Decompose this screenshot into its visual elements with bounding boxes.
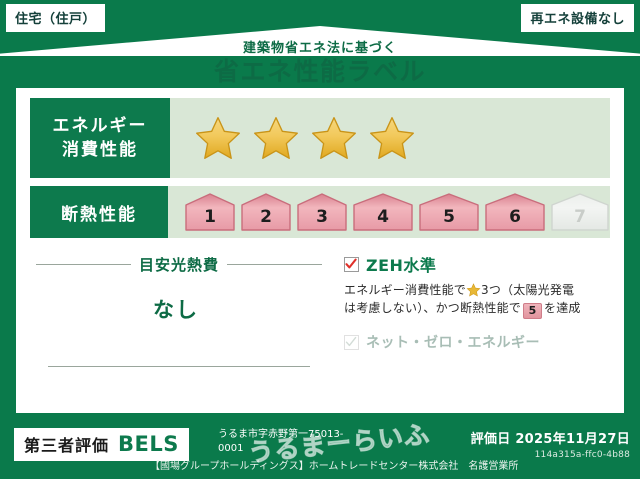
insulation-grade-scale: 1234567 xyxy=(168,186,610,238)
label-title-block: 建築物省エネ法に基づく 省エネ性能ラベル xyxy=(0,40,640,88)
zeh-desc-part4: を達成 xyxy=(544,301,581,315)
building-type-tag: 住宅（住戸） xyxy=(6,4,105,32)
lower-section: 目安光熱費 なし ZEH水準 エネルギー消費性能で3つ（太陽光発電 xyxy=(30,248,610,398)
title-subtitle: 建築物省エネ法に基づく xyxy=(0,40,640,57)
bels-name-label: BELS xyxy=(118,432,179,456)
star-filled-icon xyxy=(252,115,300,161)
utility-cost-value: なし xyxy=(30,294,322,324)
insulation-chip-active: 5 xyxy=(418,192,480,232)
energy-label-line1: エネルギー xyxy=(53,114,148,138)
zeh-desc-part2: 3つ（太陽光発電 xyxy=(481,283,574,297)
utility-cost-block: 目安光熱費 なし xyxy=(30,248,330,398)
net-zero-checkbox-unchecked-icon xyxy=(344,335,359,350)
company-name: 【國場グループホールディングス】ホームトレードセンター株式会社 名護営業所 xyxy=(150,457,570,472)
energy-label-root: 住宅（住戸） 再エネ設備なし 建築物省エネ法に基づく 省エネ性能ラベル エネルギ… xyxy=(0,0,640,479)
insulation-performance-row: 断熱性能 1234567 xyxy=(30,186,610,238)
utility-cost-heading-text: 目安光熱費 xyxy=(139,254,219,275)
utility-cost-divider xyxy=(48,366,310,367)
address-line-1: うるま市字赤野第一75013- xyxy=(218,428,478,442)
insulation-chip-inactive: 7 xyxy=(550,192,610,232)
heading-rule-right xyxy=(227,264,322,265)
insulation-chip-active: 4 xyxy=(352,192,414,232)
zeh-heading: ZEH水準 xyxy=(344,252,610,276)
insulation-chip-value: 7 xyxy=(574,207,586,232)
insulation-chip-value: 6 xyxy=(509,207,521,232)
energy-performance-value xyxy=(170,98,610,178)
inline-grade-chip: 5 xyxy=(523,303,542,319)
label-body-panel: エネルギー 消費性能 断熱性能 1234567 目安光熱費 なし xyxy=(16,88,624,413)
heading-rule-left xyxy=(36,264,131,265)
utility-cost-heading: 目安光熱費 xyxy=(36,254,322,275)
energy-performance-label: エネルギー 消費性能 xyxy=(30,98,170,178)
energy-label-line2: 消費性能 xyxy=(62,138,138,162)
energy-performance-row: エネルギー 消費性能 xyxy=(30,98,610,178)
star-filled-icon xyxy=(310,115,358,161)
zeh-block: ZEH水準 エネルギー消費性能で3つ（太陽光発電 は考慮しない）、かつ断熱性能で… xyxy=(330,248,610,398)
bels-prefix-label: 第三者評価 xyxy=(24,432,109,456)
insulation-chip-active: 3 xyxy=(296,192,348,232)
insulation-chip-value: 4 xyxy=(377,207,389,232)
title-main: 省エネ性能ラベル xyxy=(0,57,640,86)
property-address: うるま市字赤野第一75013- 0001 xyxy=(218,428,478,456)
insulation-chip-active: 1 xyxy=(184,192,236,232)
zeh-desc-part3: は考慮しない）、かつ断熱性能で xyxy=(344,301,521,315)
evaluation-date-block: 評価日 2025年11月27日 114a315a-ffc0-4b88 xyxy=(471,428,630,460)
inline-star-icon xyxy=(466,283,481,297)
insulation-chip-value: 2 xyxy=(260,207,272,232)
zeh-title: ZEH水準 xyxy=(366,252,436,276)
zeh-description: エネルギー消費性能で3つ（太陽光発電 は考慮しない）、かつ断熱性能で5を達成 xyxy=(344,281,610,319)
insulation-performance-label: 断熱性能 xyxy=(30,186,168,238)
net-zero-energy-row: ネット・ゼロ・エネルギー xyxy=(344,332,610,352)
zeh-desc-part1: エネルギー消費性能で xyxy=(344,283,466,297)
insulation-chip-active: 2 xyxy=(240,192,292,232)
address-line-2: 0001 xyxy=(218,442,478,456)
insulation-chip-value: 5 xyxy=(443,207,455,232)
insulation-chip-value: 1 xyxy=(204,207,216,232)
insulation-chip-active: 6 xyxy=(484,192,546,232)
insulation-chip-value: 3 xyxy=(316,207,328,232)
star-filled-icon xyxy=(368,115,416,161)
star-rating xyxy=(194,115,416,161)
renewable-equipment-tag: 再エネ設備なし xyxy=(521,4,634,32)
net-zero-energy-title: ネット・ゼロ・エネルギー xyxy=(366,332,540,352)
star-filled-icon xyxy=(194,115,242,161)
evaluation-date: 評価日 2025年11月27日 xyxy=(471,428,630,447)
zeh-checkbox-checked-icon xyxy=(344,257,359,272)
